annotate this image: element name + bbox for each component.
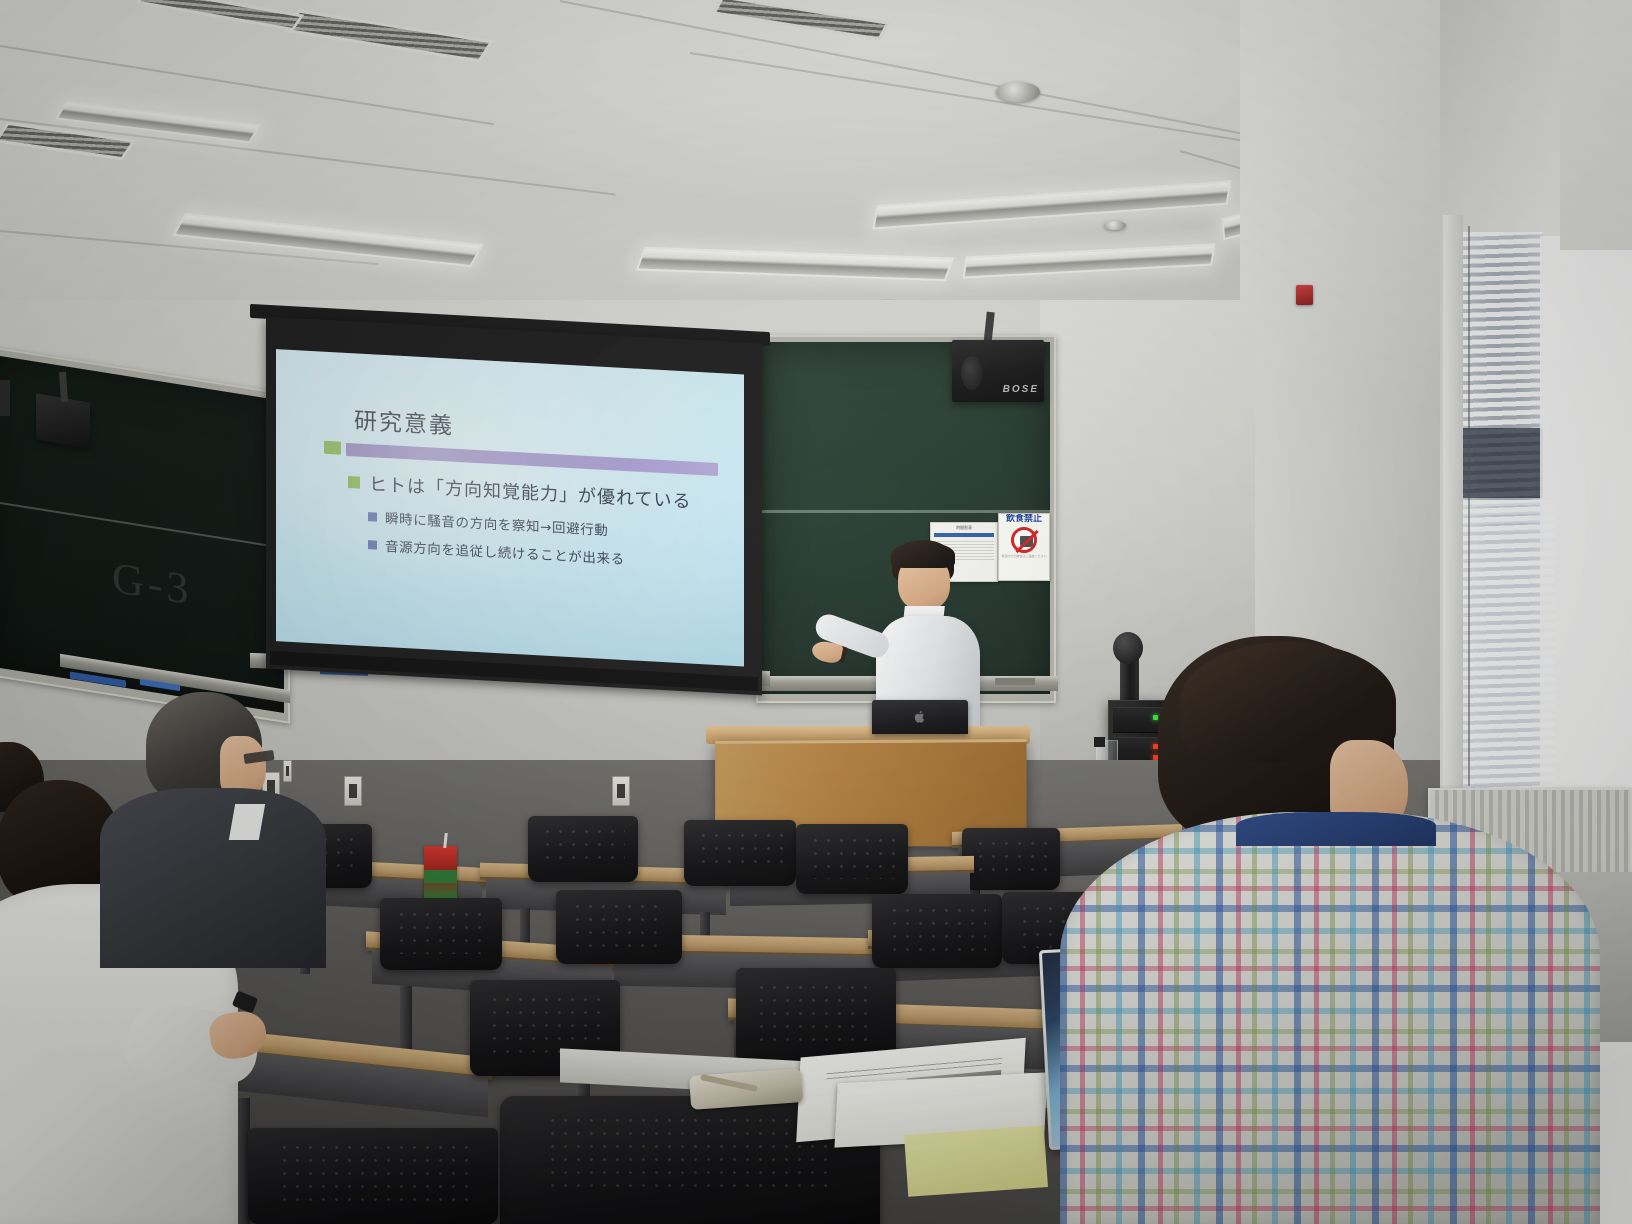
photo-vignette	[0, 0, 1632, 1224]
lecture-room-photo: G-3 時間割表 飲食禁止 教室内での飲食はご遠慮ください	[0, 0, 1632, 1224]
